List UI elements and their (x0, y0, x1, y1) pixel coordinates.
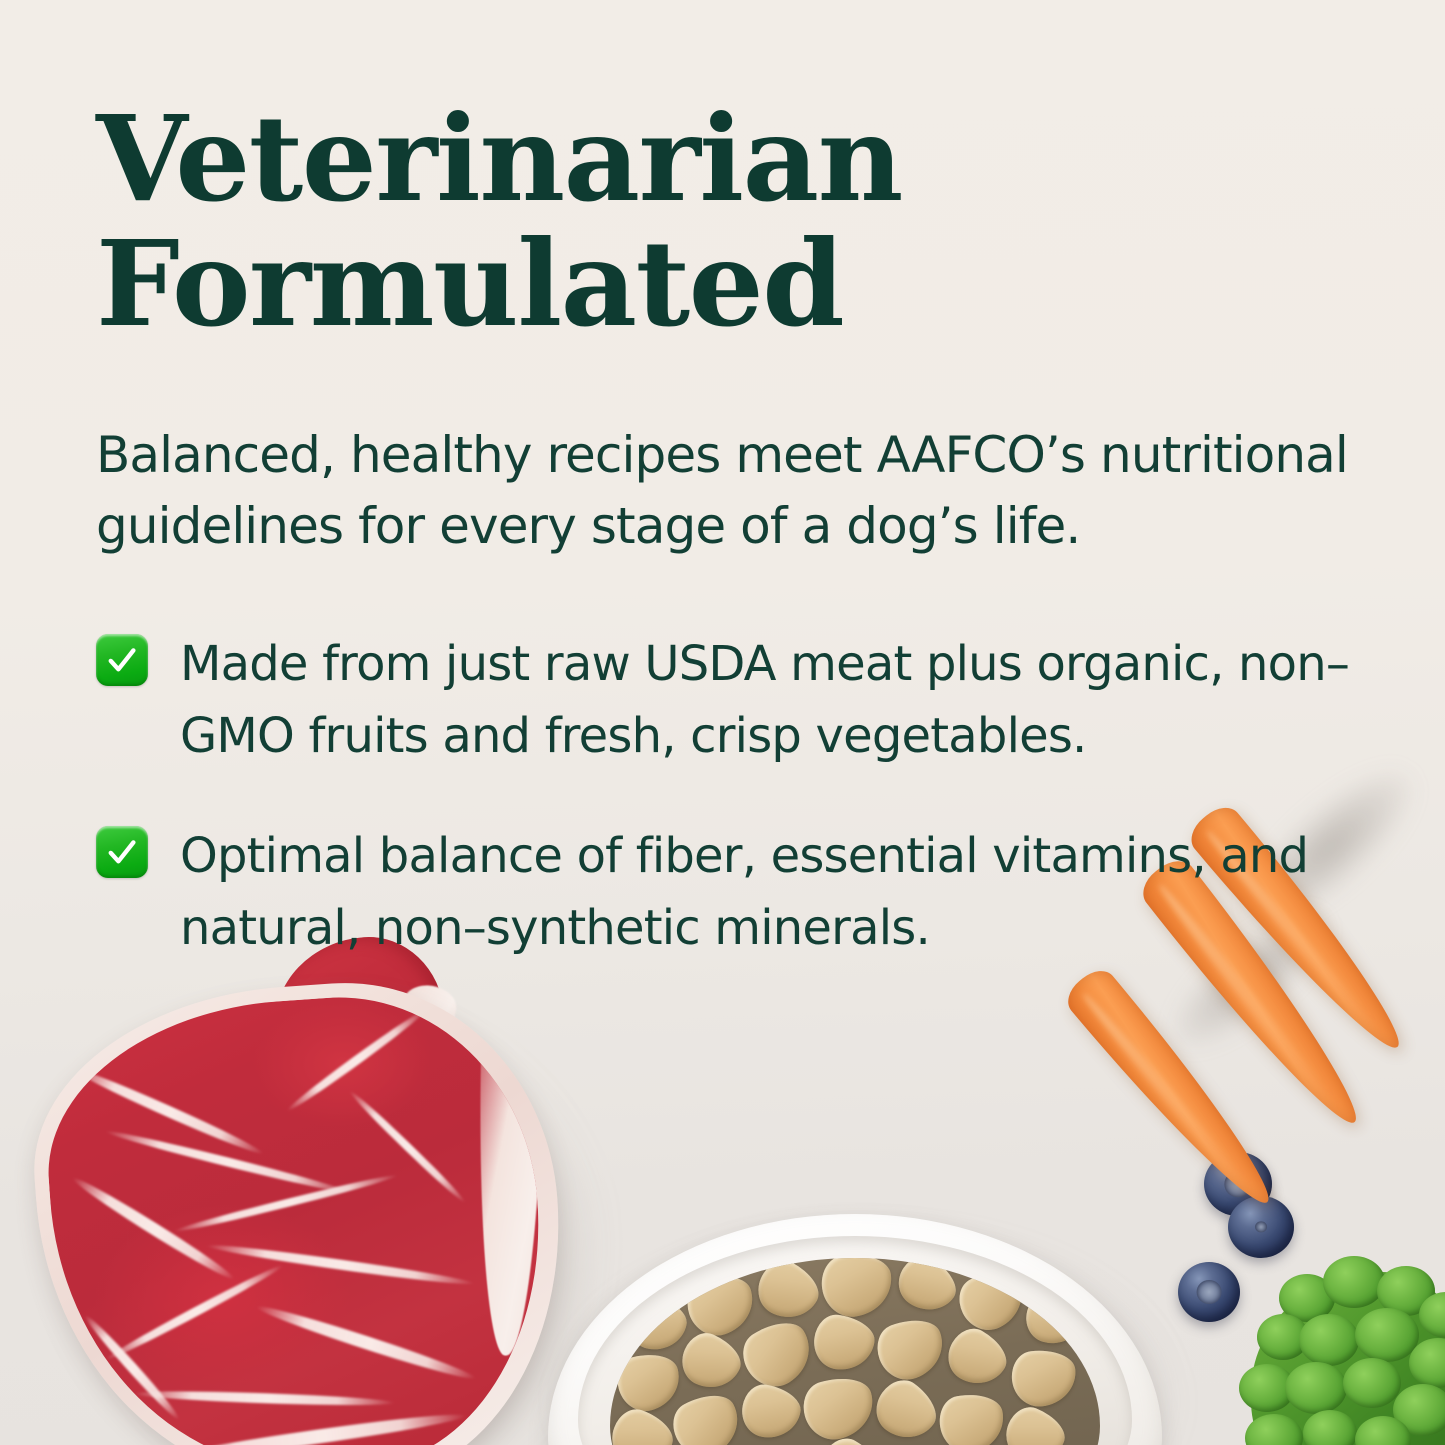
subheadline: Balanced, healthy recipes meet AAFCO’s n… (96, 420, 1391, 562)
page-title: Veterinarian Formulated (96, 96, 916, 346)
bowl-interior (610, 1258, 1100, 1445)
copy-block: Veterinarian Formulated Balanced, health… (96, 96, 1396, 964)
blueberry-lower (1178, 1262, 1240, 1322)
carrot-bottom (1060, 963, 1288, 1220)
kibble-bowl-photo (548, 1214, 1188, 1445)
steak-fat-rim (23, 969, 577, 1445)
veterinarian-formulated-banner: Veterinarian Formulated Balanced, health… (0, 0, 1445, 1445)
green-check-icon (96, 826, 148, 878)
steak-muscle (37, 984, 555, 1445)
raw-steak-photo (23, 966, 618, 1445)
bowl-shadow (568, 1240, 1168, 1445)
benefit-text: Optimal balance of fiber, essential vita… (180, 820, 1360, 964)
blueberry-crown (1224, 1171, 1251, 1197)
benefits-list: Made from just raw USDA meat plus organi… (96, 628, 1396, 964)
green-check-icon (96, 634, 148, 686)
blueberry-crown (1197, 1280, 1222, 1304)
benefit-text: Made from just raw USDA meat plus organi… (180, 628, 1360, 772)
list-item: Made from just raw USDA meat plus organi… (96, 628, 1396, 772)
steak-cap-fat (476, 1025, 544, 1356)
bowl-rim (578, 1236, 1132, 1445)
blueberry-crown (1255, 1221, 1267, 1232)
blueberry-middle (1228, 1196, 1294, 1258)
list-item: Optimal balance of fiber, essential vita… (96, 820, 1396, 964)
bowl-outer (548, 1214, 1162, 1445)
kale-leaf-body (1251, 1272, 1445, 1445)
steak-shadow (62, 992, 614, 1445)
blueberry-top (1204, 1152, 1272, 1216)
kale-photo (1251, 1252, 1445, 1445)
